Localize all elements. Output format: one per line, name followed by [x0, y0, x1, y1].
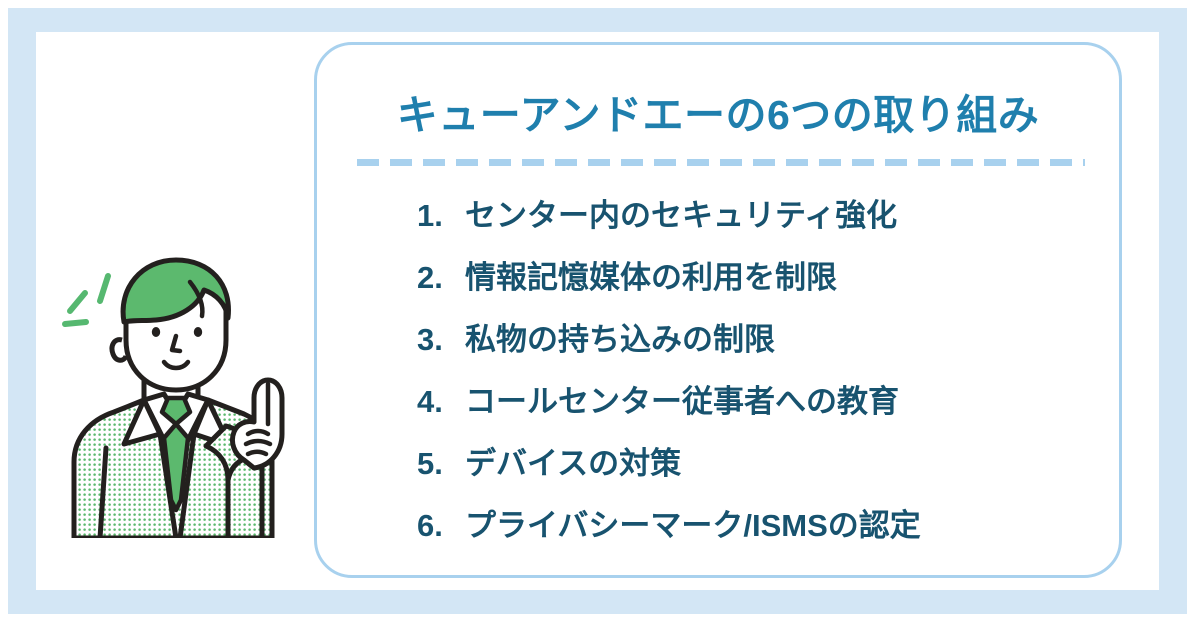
list-item: 4. コールセンター従事者への教育: [417, 371, 921, 433]
list-item-label: センター内のセキュリティ強化: [465, 185, 897, 247]
slide-root: キューアンドエーの6つの取り組み 1. センター内のセキュリティ強化 2. 情報…: [0, 0, 1195, 622]
list-item: 5. デバイスの対策: [417, 433, 921, 495]
list-item-number: 4.: [417, 371, 465, 433]
list-item-label: デバイスの対策: [465, 433, 681, 495]
list-item-number: 1.: [417, 185, 465, 247]
eye-left: [152, 327, 160, 337]
content-card: キューアンドエーの6つの取り組み 1. センター内のセキュリティ強化 2. 情報…: [314, 42, 1122, 578]
list-item: 1. センター内のセキュリティ強化: [417, 185, 921, 247]
pointing-hand-icon: [232, 380, 282, 468]
list-item-number: 5.: [417, 433, 465, 495]
list-item: 6. プライバシーマーク/ISMSの認定: [417, 495, 921, 557]
list-item-label: 情報記憶媒体の利用を制限: [465, 247, 837, 309]
page-title: キューアンドエーの6つの取り組み: [317, 93, 1119, 138]
list-item: 2. 情報記憶媒体の利用を制限: [417, 247, 921, 309]
list-item-number: 3.: [417, 309, 465, 371]
eye-right: [194, 327, 202, 337]
title-divider: [357, 159, 1085, 166]
list-item-label: 私物の持ち込みの制限: [465, 309, 775, 371]
list-item-label: プライバシーマーク/ISMSの認定: [465, 495, 921, 557]
initiatives-list: 1. センター内のセキュリティ強化 2. 情報記憶媒体の利用を制限 3. 私物の…: [417, 185, 921, 557]
businessman-pointing-up-illustration: [48, 248, 310, 538]
list-item-label: コールセンター従事者への教育: [465, 371, 899, 433]
list-item: 3. 私物の持ち込みの制限: [417, 309, 921, 371]
list-item-number: 6.: [417, 495, 465, 557]
list-item-number: 2.: [417, 247, 465, 309]
motion-lines-icon: [65, 276, 108, 324]
